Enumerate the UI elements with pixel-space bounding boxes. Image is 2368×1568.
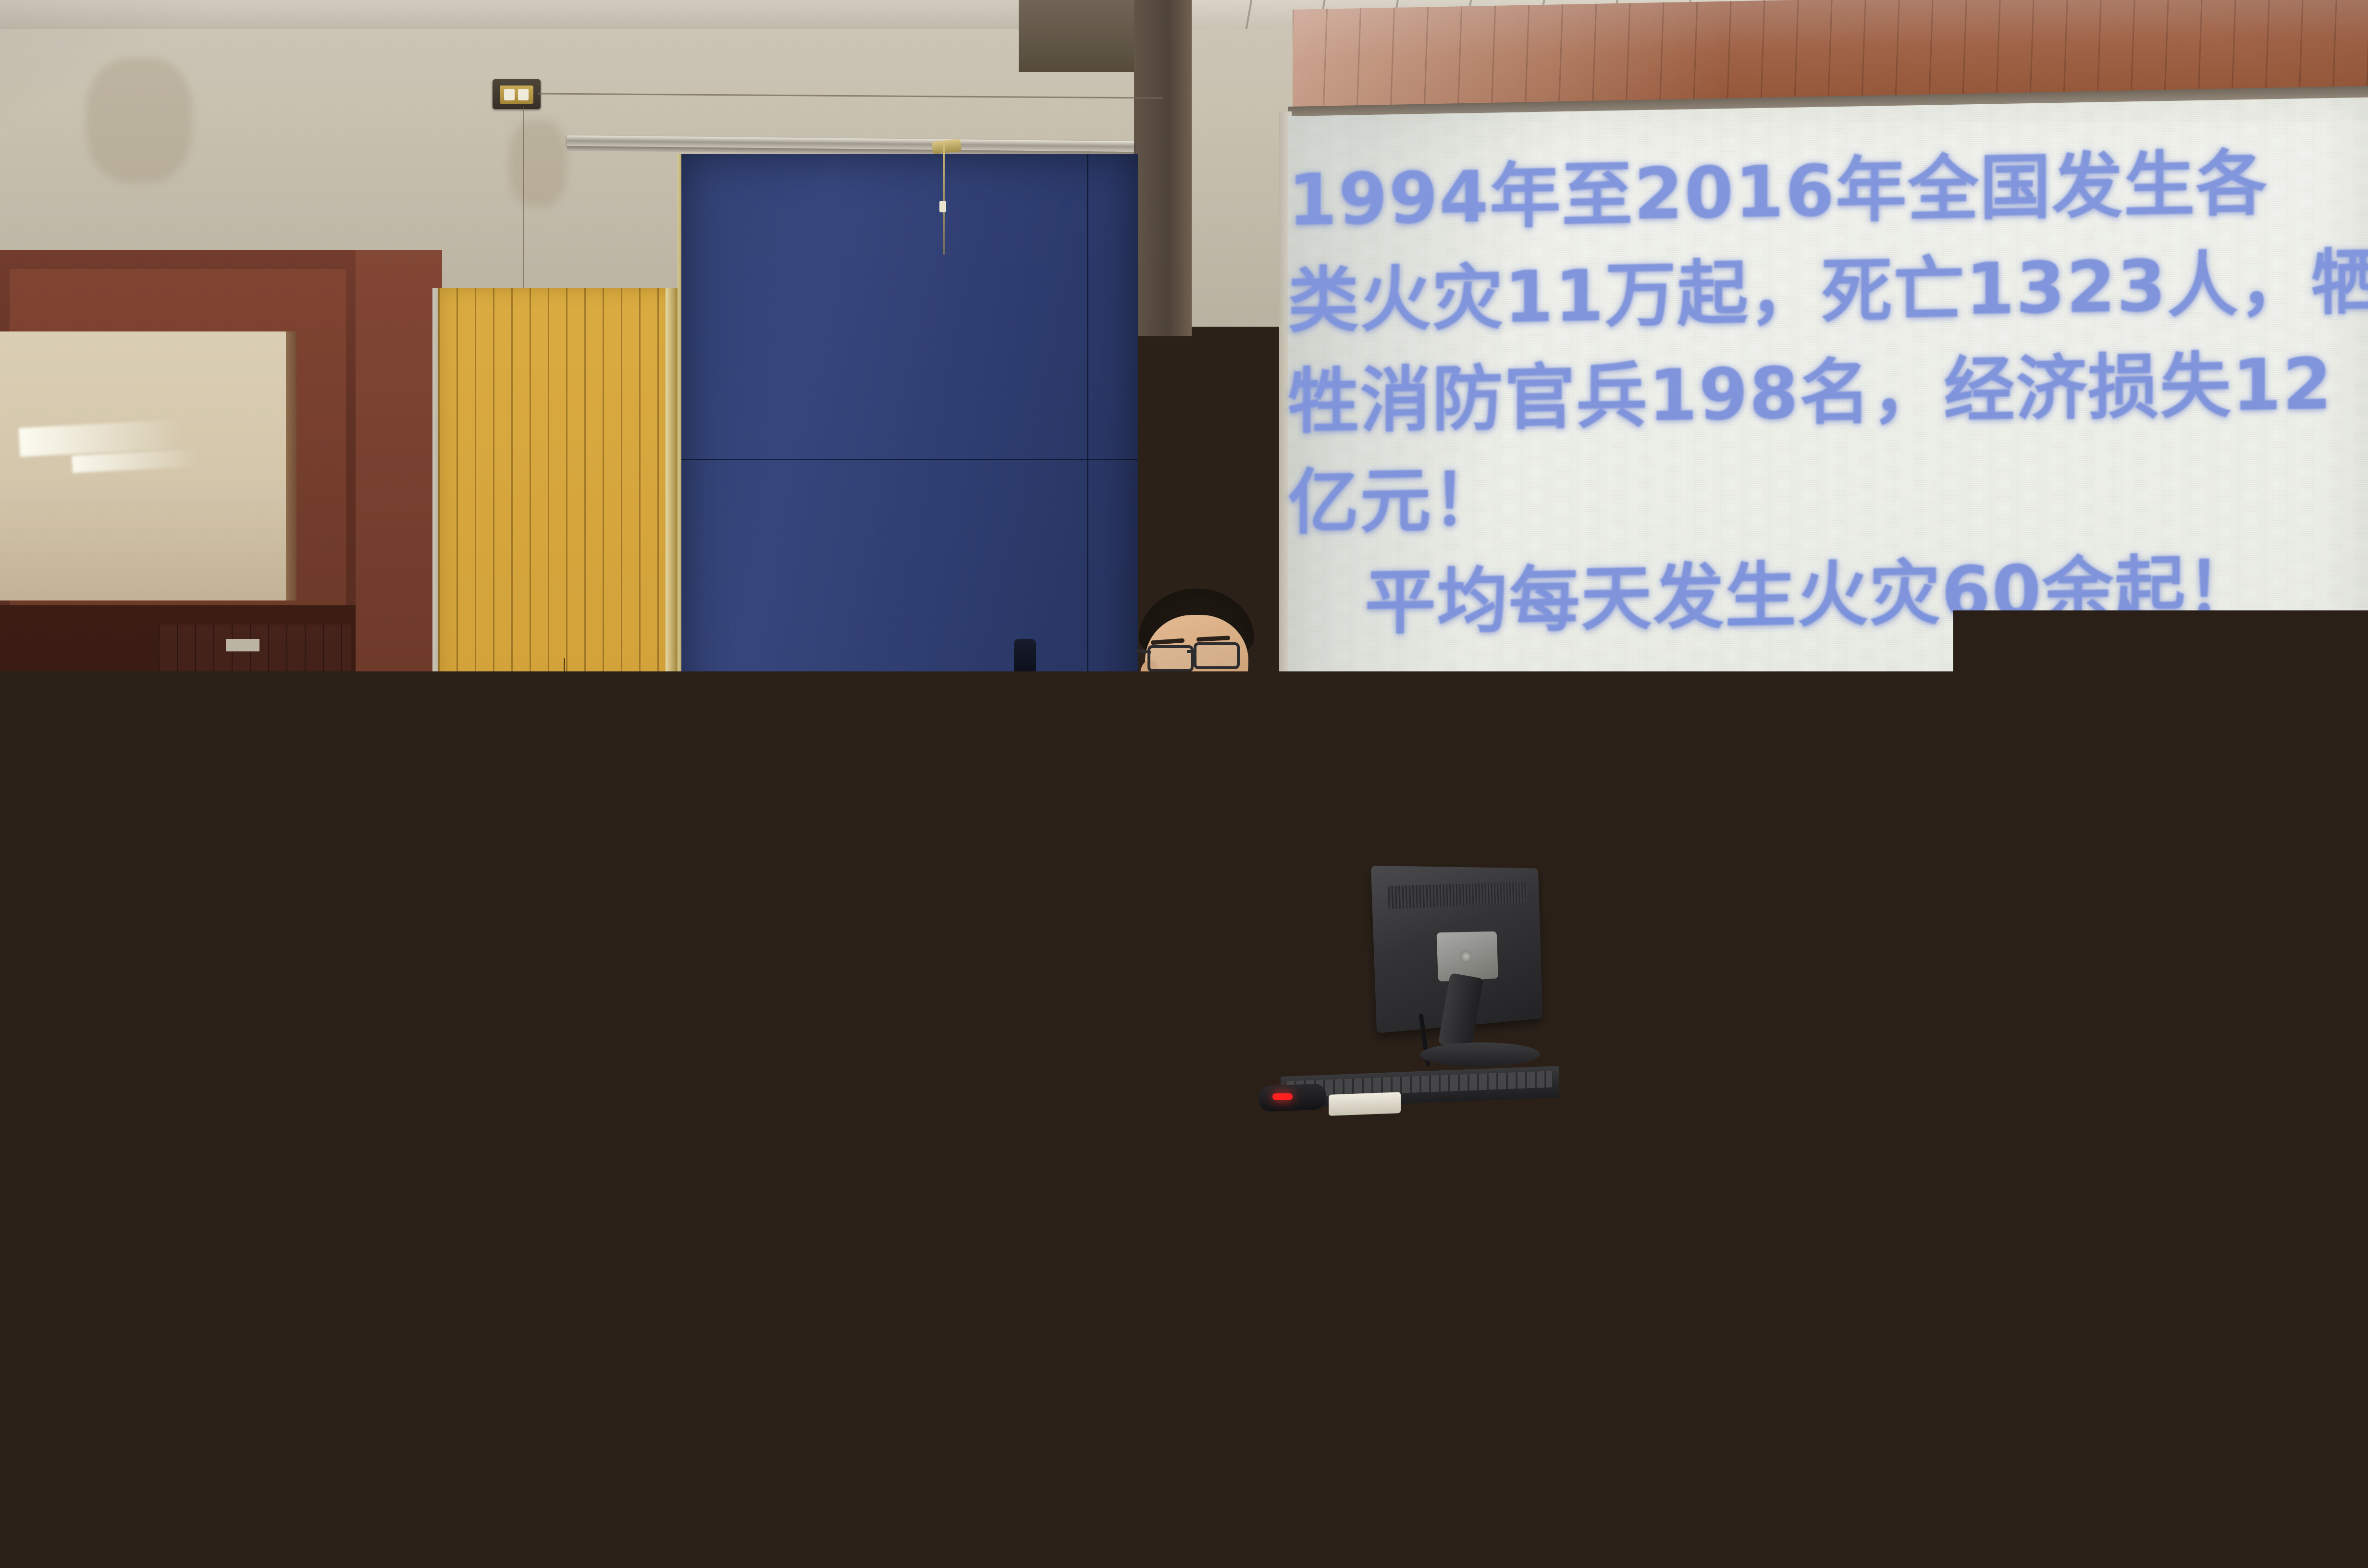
- seat-front-15[interactable]: 15: [1624, 1451, 1989, 1568]
- podium-groove: [930, 954, 933, 1026]
- seat-number: 16: [804, 1446, 851, 1493]
- slide-line-4: 亿元！: [1288, 433, 2368, 553]
- wall-plate: [226, 639, 259, 651]
- fire-extinguisher-pin[interactable]: [1608, 1204, 1620, 1216]
- seat-piping: [690, 1525, 1027, 1568]
- projector-remote[interactable]: [1329, 1092, 1401, 1116]
- seat-row-dash: [715, 1475, 737, 1481]
- seat-front-left[interactable]: [663, 1494, 1048, 1568]
- slide-line-3: 牲消防官兵198名，经济损失12: [1288, 332, 2368, 453]
- uniform-shoulder-left: [1074, 757, 1146, 843]
- mouth: [1196, 693, 1222, 704]
- audience-ear: [332, 1434, 370, 1492]
- eyeglasses-left-lens: [1147, 645, 1194, 672]
- eyeglasses-bridge: [1187, 650, 1196, 653]
- seat-piping: [2077, 1469, 2368, 1568]
- power-outlet-plug-left: [504, 89, 515, 100]
- yellow-slat-panel: [438, 288, 678, 1086]
- optical-mouse[interactable]: [1259, 1083, 1326, 1112]
- power-outlet-plug-right: [518, 89, 529, 100]
- eyeglasses-right-lens: [1194, 642, 1240, 669]
- svg-text:吉林大学: 吉林大学: [1048, 1213, 1131, 1244]
- podium-groove: [1261, 938, 1265, 1010]
- seat-row-dash: [1926, 1403, 1948, 1409]
- curtain-pull-chain[interactable]: [943, 144, 945, 255]
- wall-strip: [356, 250, 442, 1086]
- seat-front-center[interactable]: [1072, 1484, 1456, 1568]
- slide-line-2: 类火灾11万起，死亡1323人，牺: [1288, 232, 2368, 352]
- svg-text:JILIN UNIVERSITY · CHINA: JILIN UNIVERSITY · CHINA: [1015, 1109, 1163, 1178]
- seat-row-dash: [1480, 1432, 1503, 1438]
- upper-beam: [1019, 0, 1139, 72]
- left-wall-slats: [159, 625, 351, 1076]
- seat-number: 15: [1792, 1558, 1839, 1568]
- wall-stain: [509, 120, 567, 207]
- podium-shadow: [870, 992, 913, 1377]
- seat-number: 15: [1251, 1428, 1298, 1474]
- glass-divider-mullion: [286, 331, 296, 600]
- seat-row-dash: [1165, 1456, 1187, 1462]
- name-tag-emblem-icon: [1184, 891, 1209, 910]
- slide-line-1: 1994年至2016年全国发生各: [1288, 131, 2368, 251]
- panel-latch-hole: [569, 840, 581, 850]
- face: [1145, 615, 1248, 735]
- latch-cord: [564, 658, 565, 838]
- monitor-mount-screw: [1460, 950, 1472, 963]
- lecture-hall-photo: 1994年至2016年全国发生各 类火灾11万起，死亡1323人，牺 牲消防官兵…: [0, 0, 2368, 1568]
- yellow-panel-right-edge: [666, 288, 678, 1086]
- curtain-handle[interactable]: [1014, 639, 1036, 675]
- slide-text-block: 1994年至2016年全国发生各 类火灾11万起，死亡1323人，牺 牲消防官兵…: [1288, 131, 2368, 967]
- podium-groove: [944, 953, 948, 1025]
- panel-latch[interactable]: [535, 835, 598, 855]
- mouse-led-icon: [1272, 1093, 1293, 1100]
- shoulder-patch-icon: [1089, 857, 1147, 925]
- seat-piping: [1098, 1515, 1436, 1568]
- seat-row-label: 一排: [1475, 1468, 1517, 1489]
- backpack-red-detail: [82, 1484, 115, 1507]
- emblem-arc-text: JILIN UNIVERSITY · CHINA 吉林大学: [1010, 1099, 1169, 1258]
- slide-line-5: 平均每天发生火灾60余起！: [1288, 534, 2368, 654]
- wall-socket-plate: [1653, 1220, 1687, 1235]
- computer-table-apron: [1253, 1136, 1542, 1214]
- seat-front-right[interactable]: [2052, 1436, 2368, 1568]
- seat-piping: [1650, 1482, 1971, 1568]
- wall-stain: [86, 58, 192, 183]
- curtain-pull-tip: [939, 201, 946, 212]
- rank-star-icon: [1184, 813, 1207, 828]
- curtain-seam: [681, 459, 1138, 460]
- wall-pillar: [1134, 0, 1192, 336]
- podium-groove: [1247, 939, 1250, 1011]
